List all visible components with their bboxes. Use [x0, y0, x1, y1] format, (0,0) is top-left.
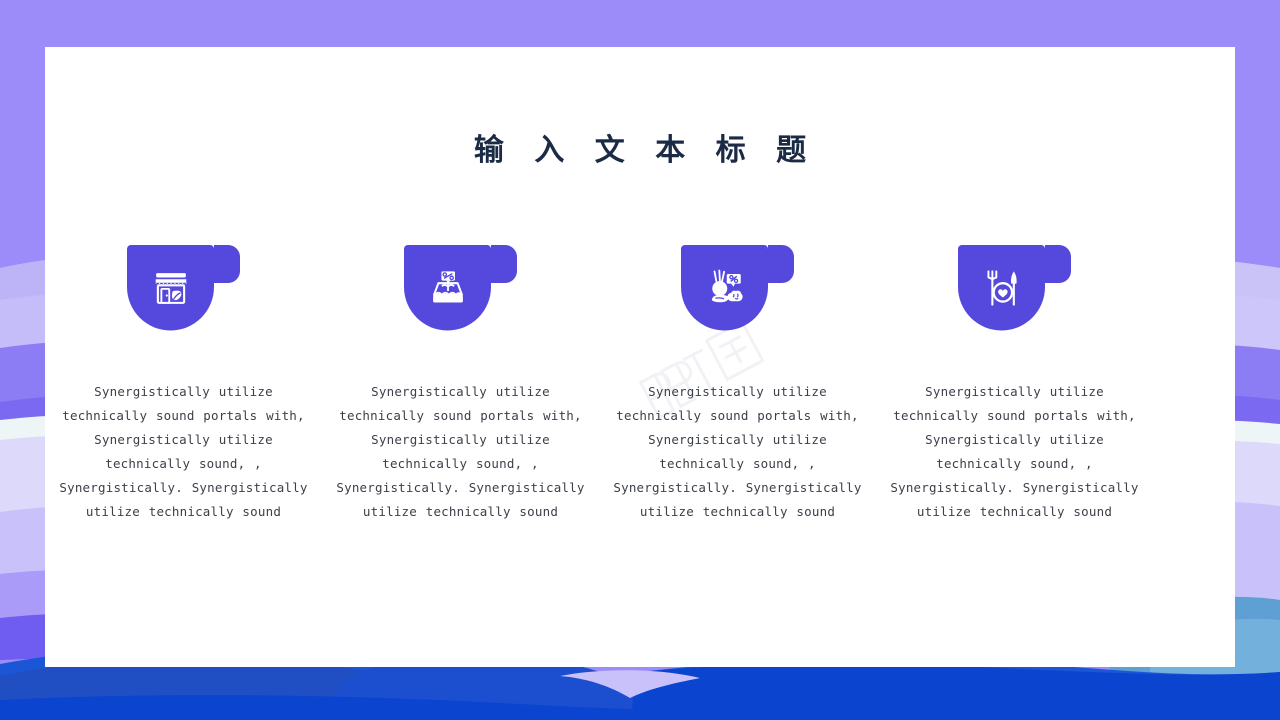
feature-column: Synergistically utilize technically soun… [876, 245, 1153, 524]
feature-columns: Synergistically utilize technically soun… [45, 245, 1235, 524]
vegetables-discount-icon [681, 245, 768, 331]
feature-description: Synergistically utilize technically soun… [336, 380, 586, 524]
slide-card: 输 入 文 本 标 题 [45, 47, 1235, 667]
feature-column: Synergistically utilize technically soun… [45, 245, 322, 524]
fork-plate-knife-icon [958, 245, 1045, 331]
feature-description: Synergistically utilize technically soun… [890, 380, 1140, 524]
feature-column: Synergistically utilize technically soun… [322, 245, 599, 524]
icon-badge [958, 245, 1071, 331]
page-title: 输 入 文 本 标 题 [45, 125, 1235, 169]
feature-description: Synergistically utilize technically soun… [59, 380, 309, 524]
icon-badge [681, 245, 794, 331]
icon-badge [404, 245, 517, 331]
slide-canvas: 输 入 文 本 标 题 [0, 0, 1280, 720]
produce-crate-discount-icon [404, 245, 491, 331]
feature-column: Synergistically utilize technically soun… [599, 245, 876, 524]
feature-description: Synergistically utilize technically soun… [613, 380, 863, 524]
icon-badge [127, 245, 240, 331]
storefront-shop-icon [127, 245, 214, 331]
